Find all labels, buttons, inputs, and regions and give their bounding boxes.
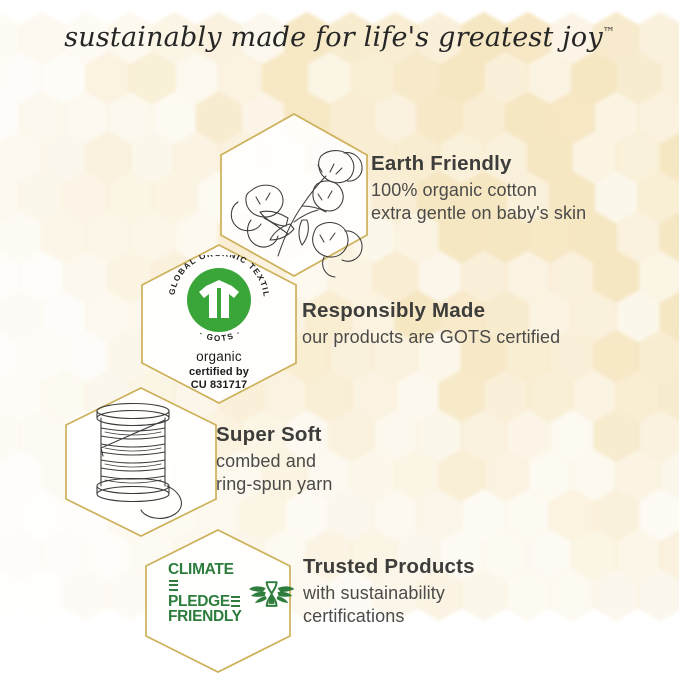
feature-line-1: with sustainability xyxy=(303,582,475,605)
thread-spool-hexagon-frame xyxy=(63,386,219,538)
marketing-infographic: sustainably made for life's greatest joy… xyxy=(0,0,679,675)
trusted-products-copy: Trusted Products with sustainability cer… xyxy=(303,555,475,628)
feature-line-1: our products are GOTS certified xyxy=(302,326,560,349)
feature-line-2: extra gentle on baby's skin xyxy=(371,202,586,225)
page-tagline: sustainably made for life's greatest joy… xyxy=(0,22,679,53)
feature-line-2: ring-spun yarn xyxy=(216,473,332,496)
climate-pledge-wordmark: CLIMATE PLEDGE FRIENDLY xyxy=(168,562,242,625)
feature-headline: Responsibly Made xyxy=(302,299,560,323)
responsibly-made-copy: Responsibly Made our products are GOTS c… xyxy=(302,299,560,349)
winged-hourglass-icon xyxy=(249,574,294,614)
cpf-line-1: CLIMATE xyxy=(168,561,234,578)
feature-line-2: certifications xyxy=(303,605,475,628)
feature-line-1: combed and xyxy=(216,450,332,473)
super-soft-copy: Super Soft combed and ring-spun yarn xyxy=(216,423,332,496)
gots-badge: GLOBAL ORGANIC TEXTILE STANDARD · GOTS ·… xyxy=(157,255,281,393)
earth-friendly-copy: Earth Friendly 100% organic cotton extra… xyxy=(371,152,586,225)
tagline-text: sustainably made for life's greatest joy xyxy=(64,22,603,53)
feature-line-1: 100% organic cotton xyxy=(371,179,586,202)
gots-caption-organic: organic xyxy=(157,349,281,364)
gots-organic-certification-icon: GLOBAL ORGANIC TEXTILE STANDARD · GOTS · xyxy=(157,255,281,341)
cpf-bars-icon xyxy=(231,596,240,607)
feature-headline: Trusted Products xyxy=(303,555,475,579)
climate-pledge-friendly-icon: CLIMATE PLEDGE FRIENDLY xyxy=(168,562,295,625)
cpf-bars-icon xyxy=(169,580,178,591)
trademark-symbol: ™ xyxy=(603,25,615,39)
cpf-line-2: PLEDGE xyxy=(168,593,230,610)
cpf-line-3: FRIENDLY xyxy=(168,608,242,625)
feature-headline: Super Soft xyxy=(216,423,332,447)
feature-headline: Earth Friendly xyxy=(371,152,586,176)
